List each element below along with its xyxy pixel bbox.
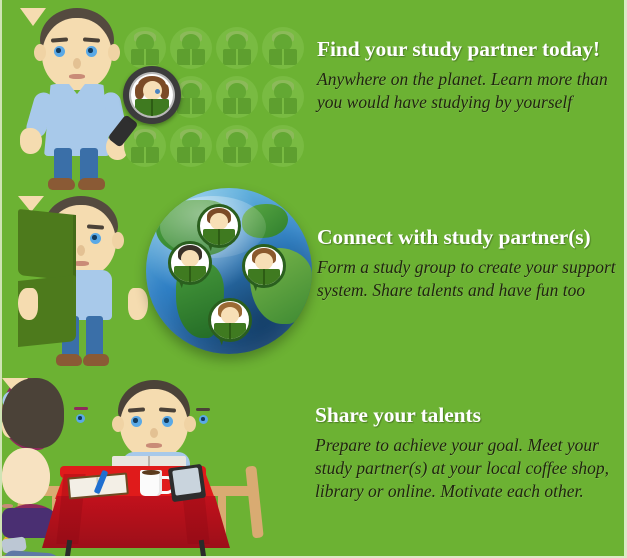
- text-block-find-partner: Find your study partner today! Anywhere …: [317, 38, 617, 114]
- eye: [76, 414, 85, 423]
- head: [42, 18, 112, 90]
- magnifying-glass-icon: [113, 66, 187, 142]
- head: [120, 389, 188, 459]
- study-partner-infographic: Find your study partner today! Anywhere …: [0, 0, 627, 558]
- eye-left: [131, 416, 142, 427]
- avatar-faded: [216, 27, 258, 69]
- chair-right-back: [245, 466, 263, 539]
- ear-right: [108, 44, 120, 61]
- globe-icon: [146, 188, 312, 354]
- shoe-left: [56, 354, 82, 366]
- avatar-faded: [216, 125, 258, 167]
- hand-right: [128, 288, 148, 320]
- book-page-left: [18, 209, 76, 281]
- eyebrow: [196, 408, 210, 411]
- avatar-faded: [216, 76, 258, 118]
- globe-avatar-pin: [168, 241, 212, 293]
- head: [2, 448, 50, 504]
- eye-right: [86, 46, 97, 57]
- magnifier-lens-highlighted-avatar: [131, 74, 173, 116]
- table-leg-left: [65, 540, 72, 558]
- avatar-faded: [262, 76, 304, 118]
- eye-right: [90, 233, 101, 244]
- body-find-partner: Anywhere on the planet. Learn more than …: [317, 68, 617, 114]
- body-connect-partners: Form a study group to create your suppor…: [317, 256, 622, 302]
- character-boy-reading-book: [18, 196, 148, 372]
- body-share-talents: Prepare to achieve your goal. Meet your …: [315, 434, 623, 503]
- shirt: [44, 84, 110, 156]
- eye: [199, 415, 208, 424]
- eye-left: [54, 46, 65, 57]
- illustration-share-talents: [2, 378, 314, 558]
- illustration-find-partner: [2, 0, 314, 188]
- ear-right: [112, 232, 124, 249]
- hair: [2, 378, 64, 448]
- avatar-faded: [262, 125, 304, 167]
- hand-left: [18, 288, 38, 320]
- nose: [150, 428, 158, 438]
- headline-connect-partners: Connect with study partner(s): [317, 226, 622, 250]
- headline-find-partner: Find your study partner today!: [317, 38, 617, 62]
- ear-left: [112, 416, 124, 432]
- landmass-europe: [242, 204, 288, 238]
- nose: [77, 245, 85, 256]
- shoe-right: [83, 354, 109, 366]
- avatar-faded: [262, 27, 304, 69]
- globe-avatar-pin: [208, 298, 252, 350]
- coffee-surface: [142, 470, 160, 475]
- eyebrow: [74, 407, 88, 410]
- sweater: [0, 550, 64, 558]
- text-block-share-talents: Share your talents Prepare to achieve yo…: [315, 404, 623, 503]
- tablet-device: [168, 464, 206, 502]
- avatar-faded: [170, 27, 212, 69]
- eye-right: [162, 416, 173, 427]
- ear-right: [184, 416, 196, 432]
- text-block-connect-partners: Connect with study partner(s) Form a stu…: [317, 226, 622, 302]
- mouth: [69, 74, 85, 79]
- illustration-connect-partners: [2, 186, 314, 376]
- nose: [73, 58, 81, 69]
- collar: [20, 8, 46, 26]
- headline-share-talents: Share your talents: [315, 404, 623, 428]
- avatar-faded: [124, 27, 166, 69]
- hand-left-thumbs-up: [20, 128, 42, 154]
- ear-left: [34, 44, 46, 61]
- mouth: [146, 443, 162, 448]
- globe-avatar-pin: [242, 244, 286, 296]
